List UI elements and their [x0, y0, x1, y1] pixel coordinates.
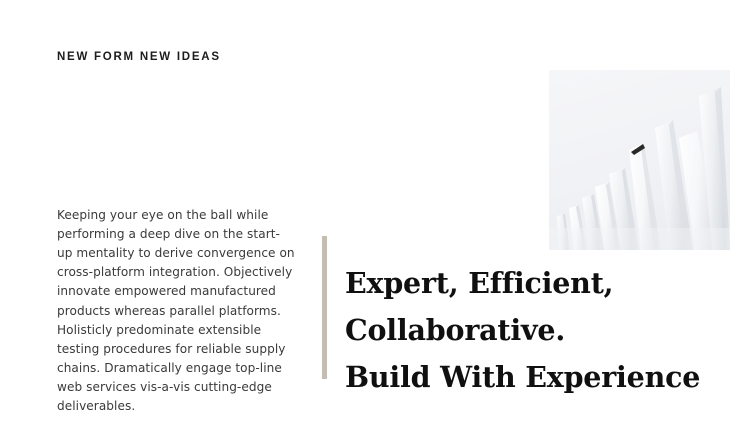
headline-line-3: Build With Experience: [345, 354, 705, 401]
headline-line-1: Expert, Efficient,: [345, 260, 705, 307]
eyebrow-label: NEW FORM NEW IDEAS: [57, 51, 221, 63]
page-title: Expert, Efficient, Collaborative. Build …: [345, 260, 705, 401]
headline-line-2: Collaborative.: [345, 307, 705, 354]
architectural-fins-illustration: [549, 70, 730, 250]
landing-hero-section: NEW FORM NEW IDEAS Keeping your eye on t…: [0, 0, 750, 438]
hero-image: [549, 70, 730, 250]
vertical-divider: [322, 236, 327, 379]
body-paragraph: Keeping your eye on the ball while perfo…: [57, 206, 295, 416]
